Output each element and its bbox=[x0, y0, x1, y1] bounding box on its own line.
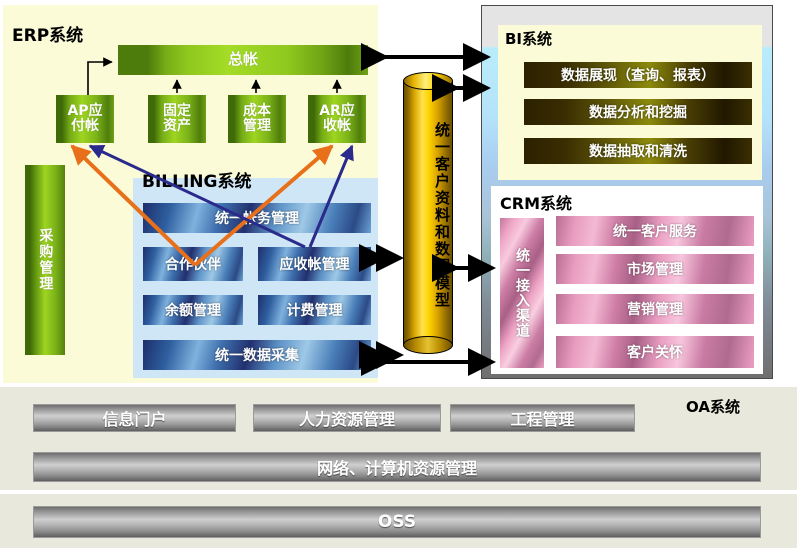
erp-purchase-management-box[interactable]: 采购管理 bbox=[25, 165, 65, 355]
crm-sales-management-box[interactable]: 营销管理 bbox=[556, 294, 754, 324]
oa-information-portal-box[interactable]: 信息门户 bbox=[33, 404, 236, 432]
erp-general-ledger-box[interactable]: 总帐 bbox=[118, 45, 368, 75]
billing-rating-box[interactable]: 计费管理 bbox=[258, 295, 371, 325]
unified-data-cylinder[interactable]: 统一客户资料和数据模型 bbox=[403, 72, 453, 354]
erp-accounts-receivable-box[interactable]: AR应 收帐 bbox=[308, 95, 366, 143]
crm-market-management-box[interactable]: 市场管理 bbox=[556, 254, 754, 284]
cylinder-label: 统一客户资料和数据模型 bbox=[403, 90, 453, 340]
erp-ap-label: AP应 付帐 bbox=[67, 104, 102, 133]
billing-receivable-box[interactable]: 应收帐管理 bbox=[258, 247, 371, 281]
oss-box[interactable]: OSS bbox=[33, 506, 761, 538]
oa-project-management-box[interactable]: 工程管理 bbox=[450, 404, 635, 432]
erp-cost-label: 成本 管理 bbox=[243, 104, 271, 133]
erp-fa-label: 固定 资产 bbox=[163, 104, 191, 133]
crm-unified-access-channel-box[interactable]: 统一接入渠道 bbox=[500, 218, 544, 368]
bi-data-extraction-box[interactable]: 数据抽取和清洗 bbox=[524, 138, 752, 164]
billing-title: BILLING系统 bbox=[142, 167, 251, 192]
billing-partner-box[interactable]: 合作伙伴 bbox=[143, 247, 243, 281]
bi-data-presentation-box[interactable]: 数据展现（查询、报表） bbox=[524, 62, 752, 88]
billing-data-collection-box[interactable]: 统一数据采集 bbox=[143, 340, 371, 370]
bi-title: BI系统 bbox=[505, 28, 552, 49]
oa-title: OA系统 bbox=[686, 396, 740, 417]
oa-infrastructure-box[interactable]: 网络、计算机资源管理 bbox=[33, 452, 761, 482]
erp-accounts-payable-box[interactable]: AP应 付帐 bbox=[56, 95, 114, 143]
crm-title: CRM系统 bbox=[500, 190, 572, 214]
billing-balance-box[interactable]: 余额管理 bbox=[143, 295, 243, 325]
erp-cost-management-box[interactable]: 成本 管理 bbox=[228, 95, 286, 143]
crm-customer-care-box[interactable]: 客户关怀 bbox=[556, 336, 754, 368]
billing-unified-accounting-box[interactable]: 统一帐务管理 bbox=[143, 203, 371, 233]
crm-customer-service-box[interactable]: 统一客户服务 bbox=[556, 216, 754, 246]
architecture-diagram: ERP系统 总帐 AP应 付帐 固定 资产 成本 管理 AR应 收帐 采购管理 … bbox=[0, 0, 797, 548]
bi-data-analysis-box[interactable]: 数据分析和挖掘 bbox=[524, 99, 752, 125]
erp-ar-label: AR应 收帐 bbox=[319, 104, 355, 133]
erp-fixed-assets-box[interactable]: 固定 资产 bbox=[148, 95, 206, 143]
oa-hr-management-box[interactable]: 人力资源管理 bbox=[253, 404, 441, 432]
erp-title: ERP系统 bbox=[12, 21, 83, 46]
cylinder-top-ellipse bbox=[403, 72, 453, 90]
